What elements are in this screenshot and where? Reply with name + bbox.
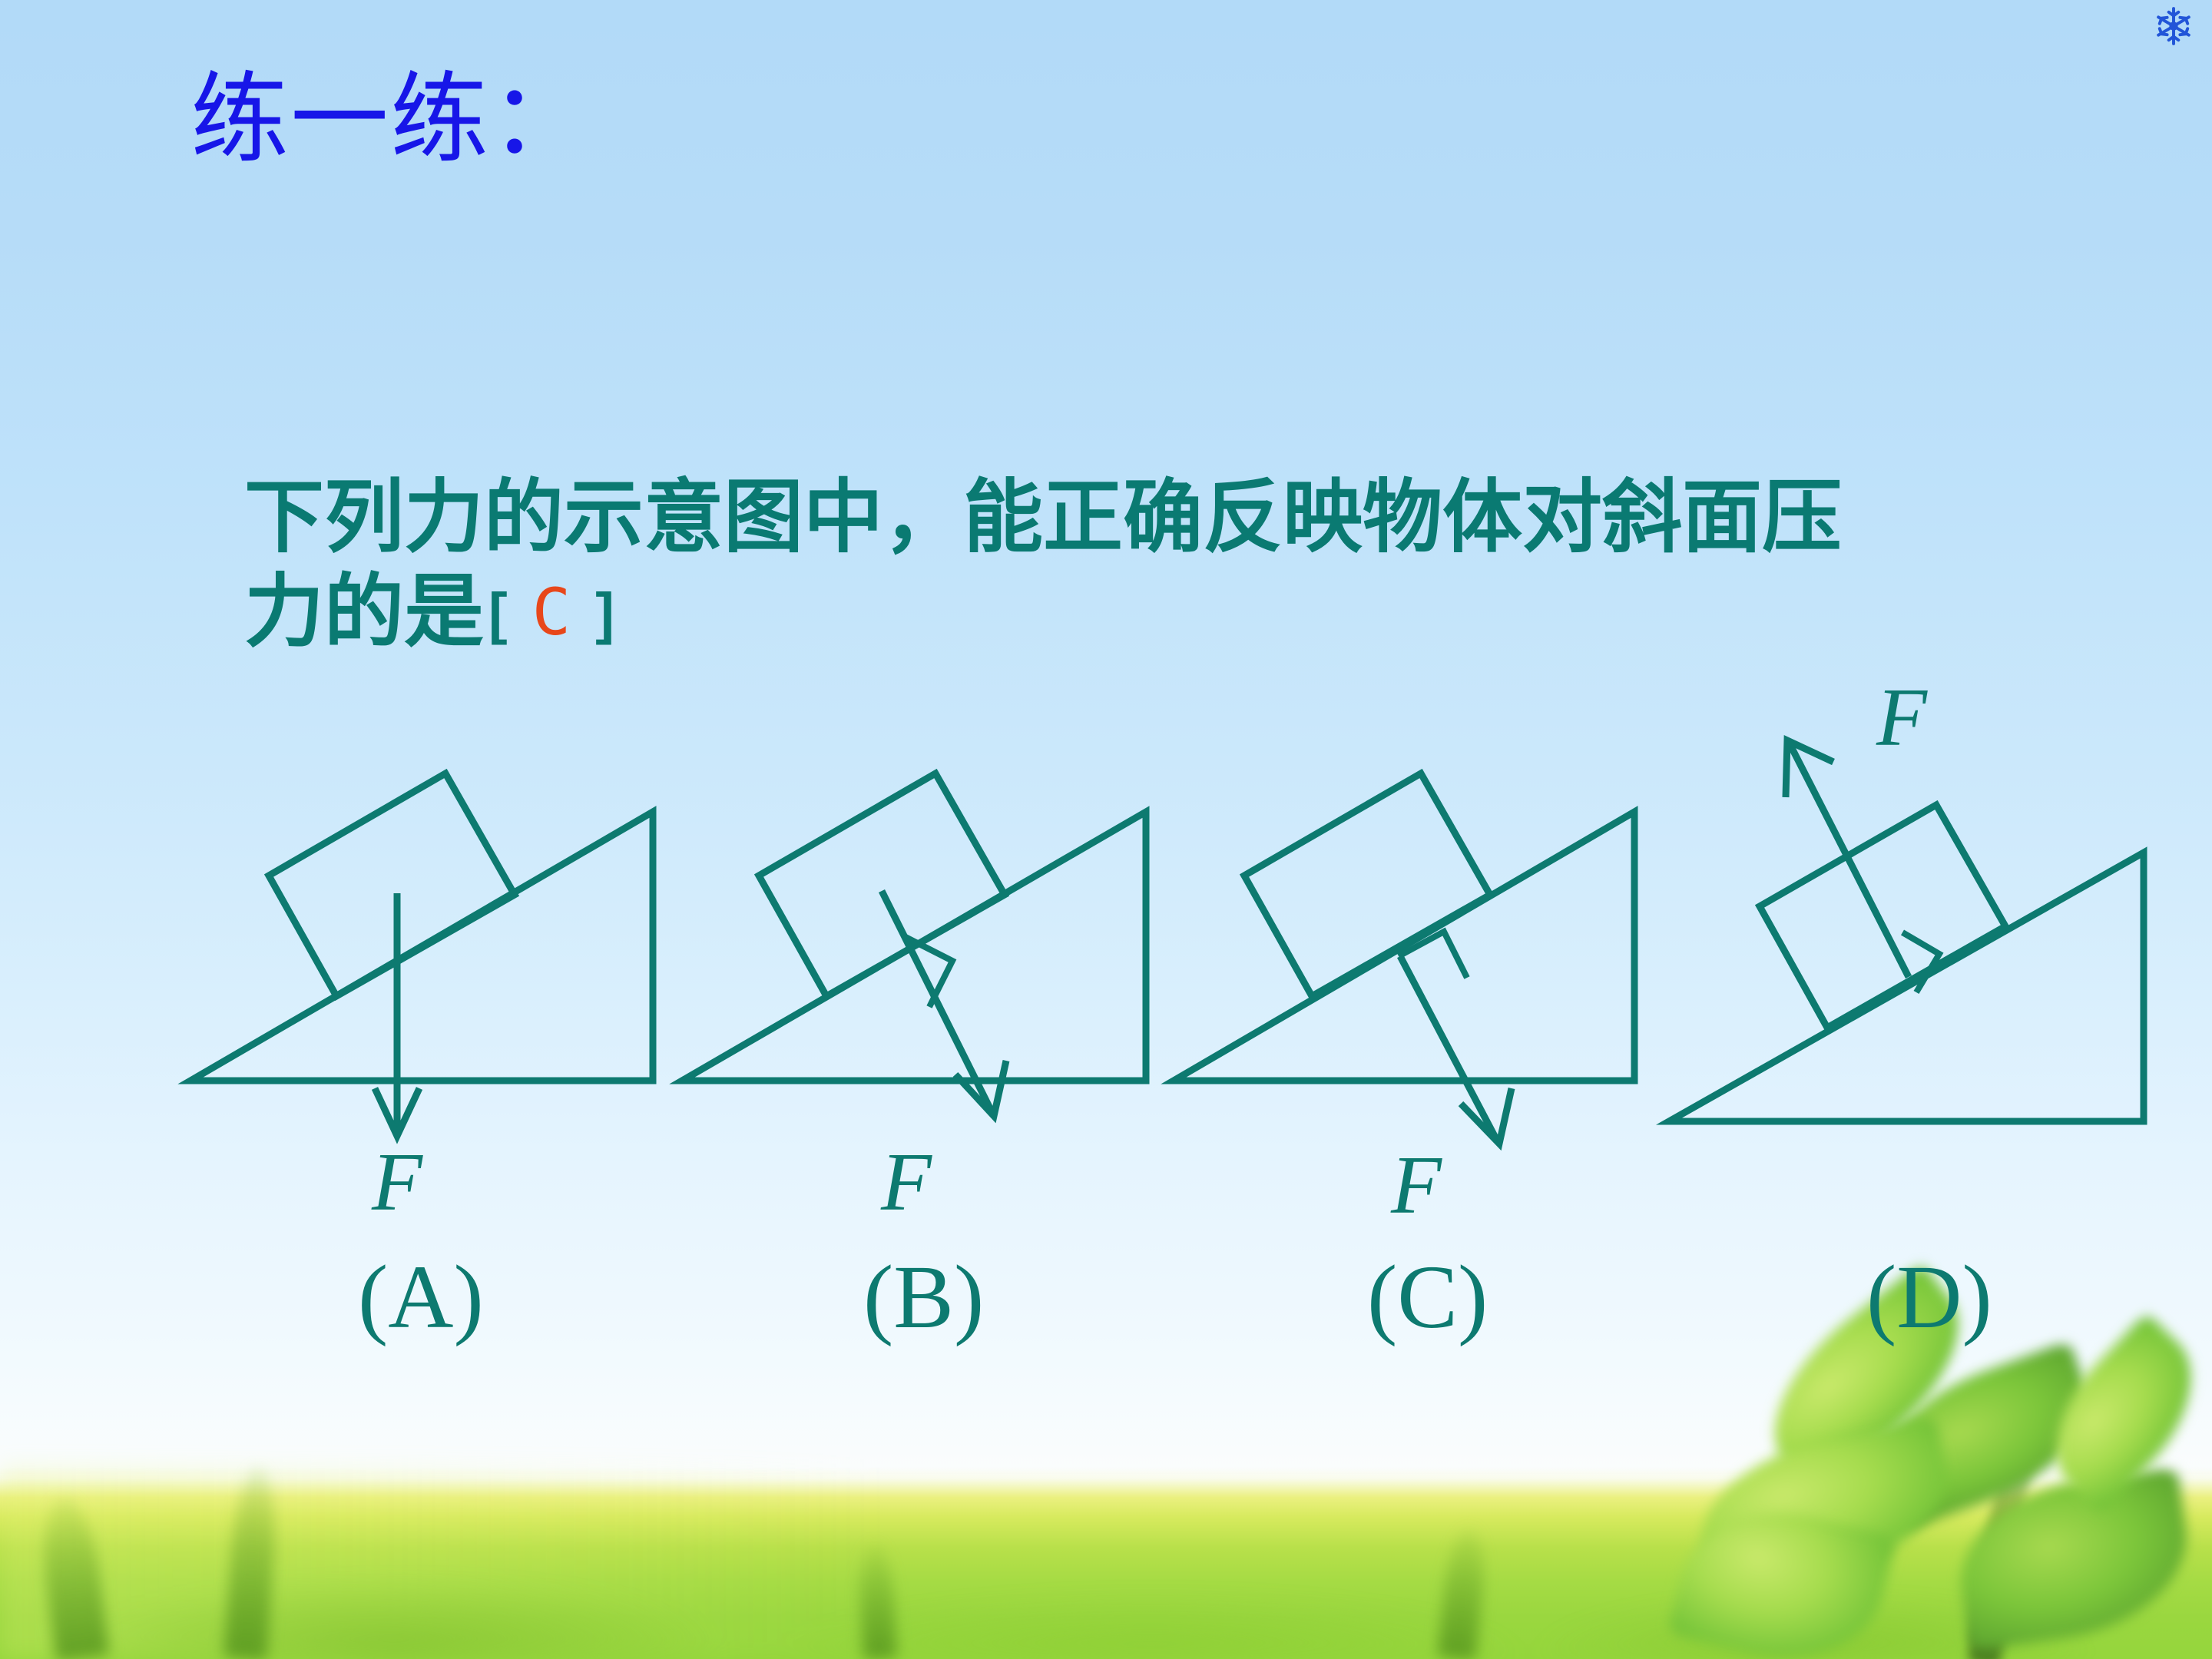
option-label-b: (B): [863, 1252, 984, 1343]
force-arrow-shaft-b: [882, 891, 991, 1110]
figure-d: F: [1655, 661, 2147, 1152]
force-arrow-shaft-d: [1790, 745, 1909, 977]
question-line-1: 下列力的示意图中，能正确反映物体对斜面压: [244, 470, 1842, 564]
figure-b: F: [676, 733, 1167, 1225]
figure-c: F: [1174, 733, 1665, 1225]
option-label-d: (D): [1866, 1252, 1992, 1343]
bracket-close: ]: [591, 581, 619, 645]
question-line-2: 力的是[C]: [244, 565, 2149, 659]
answer-letter: C: [512, 575, 591, 650]
snowflake-icon[interactable]: [2152, 5, 2195, 48]
force-label-d: F: [1876, 672, 1928, 763]
block-c: [1244, 773, 1490, 996]
force-label-c: F: [1390, 1140, 1442, 1231]
slide-canvas: 练一练： 下列力的示意图中，能正确反映物体对斜面压 力的是[C] F: [0, 0, 2212, 1659]
figure-a: F: [177, 733, 668, 1225]
force-label-b: F: [880, 1137, 932, 1228]
option-label-a: (A): [358, 1252, 484, 1343]
bracket-open: [: [484, 581, 512, 645]
force-arrow-shaft-c: [1400, 956, 1496, 1139]
question-line-2-prefix: 力的是: [244, 565, 484, 658]
question-block: 下列力的示意图中，能正确反映物体对斜面压 力的是[C]: [244, 470, 2149, 658]
block-a: [269, 773, 515, 996]
page-title: 练一练：: [190, 71, 590, 169]
force-label-a: F: [371, 1137, 423, 1228]
block-b: [759, 773, 1005, 996]
incline-triangle: [1669, 853, 2144, 1121]
block-d: [1760, 805, 2005, 1028]
option-label-c: (C): [1367, 1252, 1488, 1343]
